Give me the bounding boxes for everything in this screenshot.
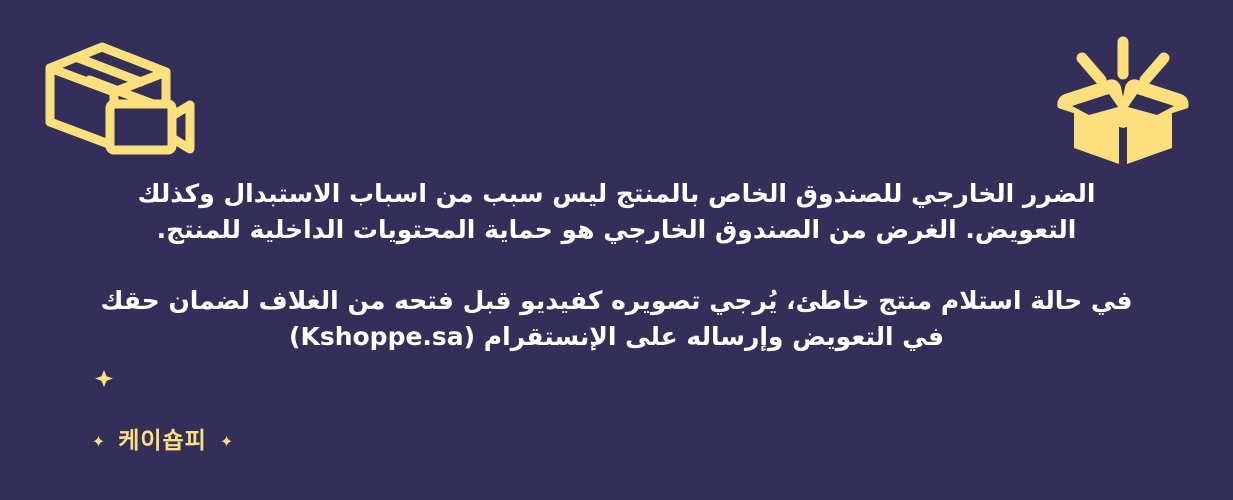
instagram-handle: (Kshoppe.sa) [289,319,475,355]
package-video-icon [44,42,194,157]
kshoppe-wordmark: KSHOPPE [60,363,265,425]
sparkle-left-icon: ✦ [220,434,233,450]
return-policy-banner: الضرر الخارجي للصندوق الخاص بالمنتج ليس … [0,0,1233,500]
policy-paragraph-video-text: في حالة استلام منتج خاطئ، يُرجي تصويره ك… [100,286,1132,351]
kshoppe-logo: KSHOPPE ✦ 케이숍피 ✦ [40,363,265,468]
kshoppe-subtitle: 케이숍피 [118,430,207,453]
banner-copy: الضرر الخارجي للصندوق الخاص بالمنتج ليس … [0,176,1233,355]
kshoppe-subtitle-row: ✦ 케이숍피 ✦ [60,430,265,453]
open-box-burst-icon [1048,36,1198,168]
policy-paragraph-video: في حالة استلام منتج خاطئ، يُرجي تصويره ك… [78,283,1155,355]
policy-paragraph-damage: الضرر الخارجي للصندوق الخاص بالمنتج ليس … [78,176,1155,248]
sparkle-right-icon: ✦ [92,434,105,450]
